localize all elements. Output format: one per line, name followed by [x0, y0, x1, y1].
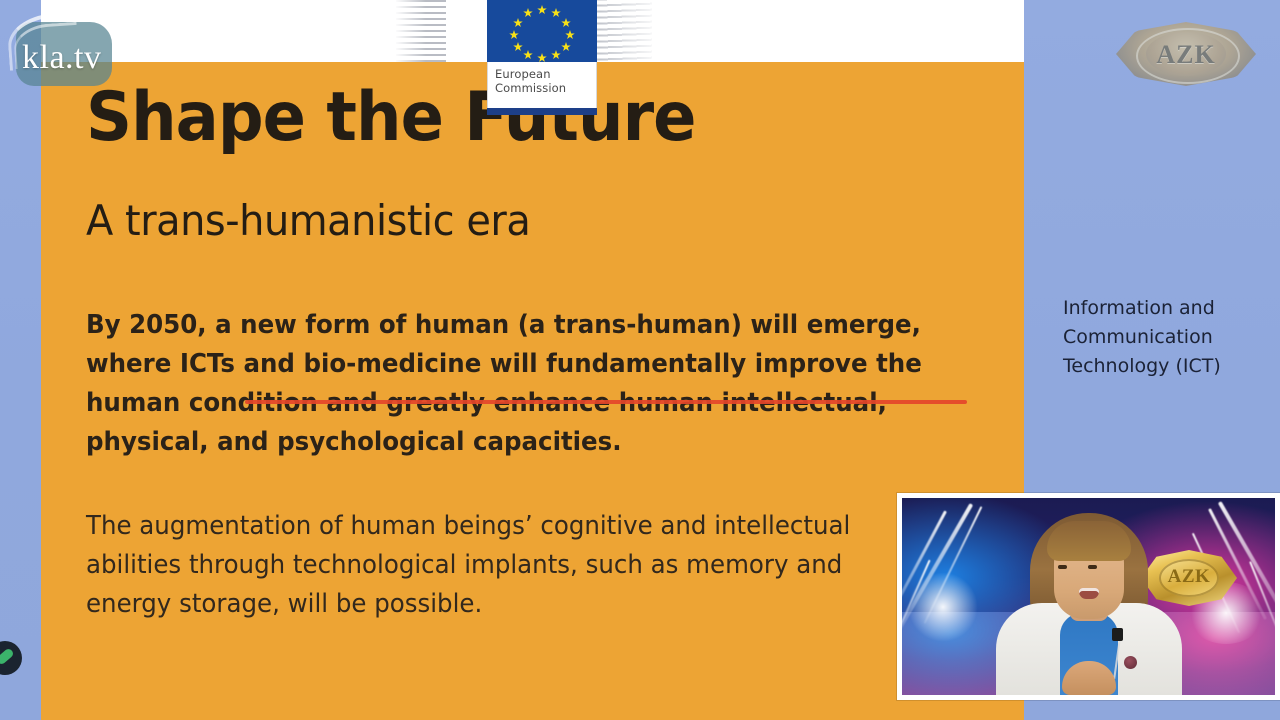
klatv-wordmark: kla.tv: [22, 40, 101, 76]
presenter-mouth: [1079, 588, 1099, 599]
light-glow-icon: [908, 572, 978, 642]
eu-logo-caption-line1: European: [495, 67, 596, 81]
klatv-watermark-logo: kla.tv: [8, 14, 114, 88]
slide-paragraph-1: By 2050, a new form of human (a trans-hu…: [86, 306, 931, 462]
lapel-pin-icon: [1124, 656, 1137, 669]
presenter-figure: [984, 515, 1194, 695]
ict-caption-line3: Technology (ICT): [1063, 352, 1273, 381]
presenter-video-overlay[interactable]: AZK: [897, 493, 1280, 700]
slide-subtitle: A trans-humanistic era: [86, 198, 530, 244]
highlight-underline: [245, 400, 967, 404]
slide-title: Shape the Future: [86, 82, 696, 154]
eu-flag-icon: [487, 0, 597, 62]
eu-logo-caption: European Commission: [487, 62, 597, 108]
decorative-stripes-left: [396, 0, 446, 62]
green-pill-shape: [0, 647, 15, 665]
presenter-video-frame: AZK: [902, 498, 1275, 695]
presenter-eye-left: [1058, 565, 1067, 569]
eu-logo-bottom-bar: [487, 108, 597, 115]
azk-emblem-label: AZK: [1116, 42, 1256, 68]
presenter-eye-right: [1088, 565, 1097, 569]
eu-logo-caption-line2: Commission: [495, 81, 596, 95]
european-commission-logo: European Commission: [487, 0, 597, 115]
ict-caption-line1: Information and: [1063, 294, 1273, 323]
slide-paragraph-2: The augmentation of human beings’ cognit…: [86, 507, 931, 624]
ict-caption: Information and Communication Technology…: [1063, 294, 1273, 381]
presenter-fringe: [1047, 521, 1131, 561]
azk-emblem-top: AZK: [1116, 8, 1256, 100]
lapel-microphone-icon: [1112, 628, 1123, 641]
ict-caption-line2: Communication: [1063, 323, 1273, 352]
presentation-screenshot: European Commission Shape the Future A t…: [0, 0, 1280, 720]
